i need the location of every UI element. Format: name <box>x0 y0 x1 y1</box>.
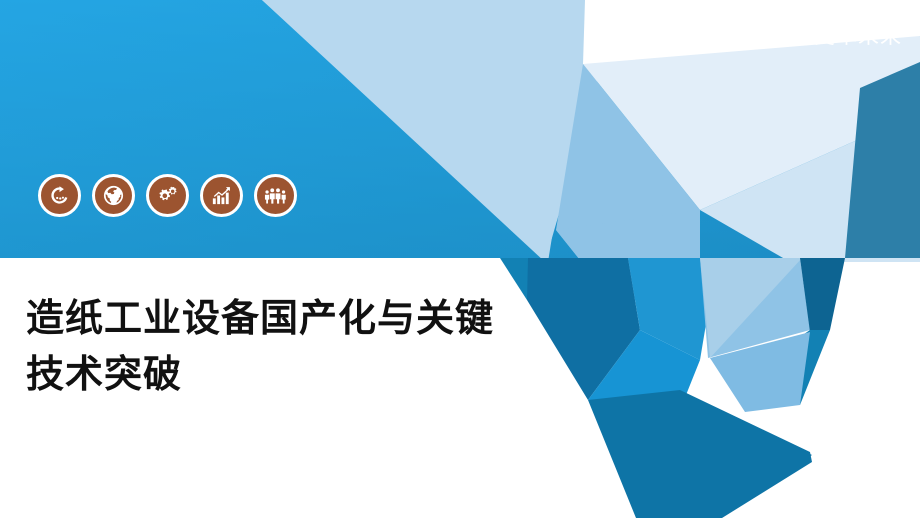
page-title: 造纸工业设备国产化与关键 技术突破 <box>26 291 546 403</box>
page-title-line-1: 造纸工业设备国产化与关键 <box>26 291 546 347</box>
refresh-cycle-icon <box>48 184 71 207</box>
background-polygon-artwork <box>0 0 920 518</box>
icon-strip <box>38 174 297 217</box>
icon-badge-people-group[interactable] <box>254 174 297 217</box>
gears-icon <box>156 184 179 207</box>
page-title-line-2: 技术突破 <box>26 347 546 403</box>
icon-badge-refresh-cycle[interactable] <box>38 174 81 217</box>
icon-badge-bar-chart-growth[interactable] <box>200 174 243 217</box>
presentation-slide: 数智创新 变革未来 <box>0 0 920 518</box>
globe-icon <box>102 184 125 207</box>
bar-chart-growth-icon <box>210 184 233 207</box>
people-group-icon <box>264 184 287 207</box>
tagline-text: 数智创新 变革未来 <box>719 24 902 49</box>
icon-badge-gears[interactable] <box>146 174 189 217</box>
icon-badge-globe[interactable] <box>92 174 135 217</box>
